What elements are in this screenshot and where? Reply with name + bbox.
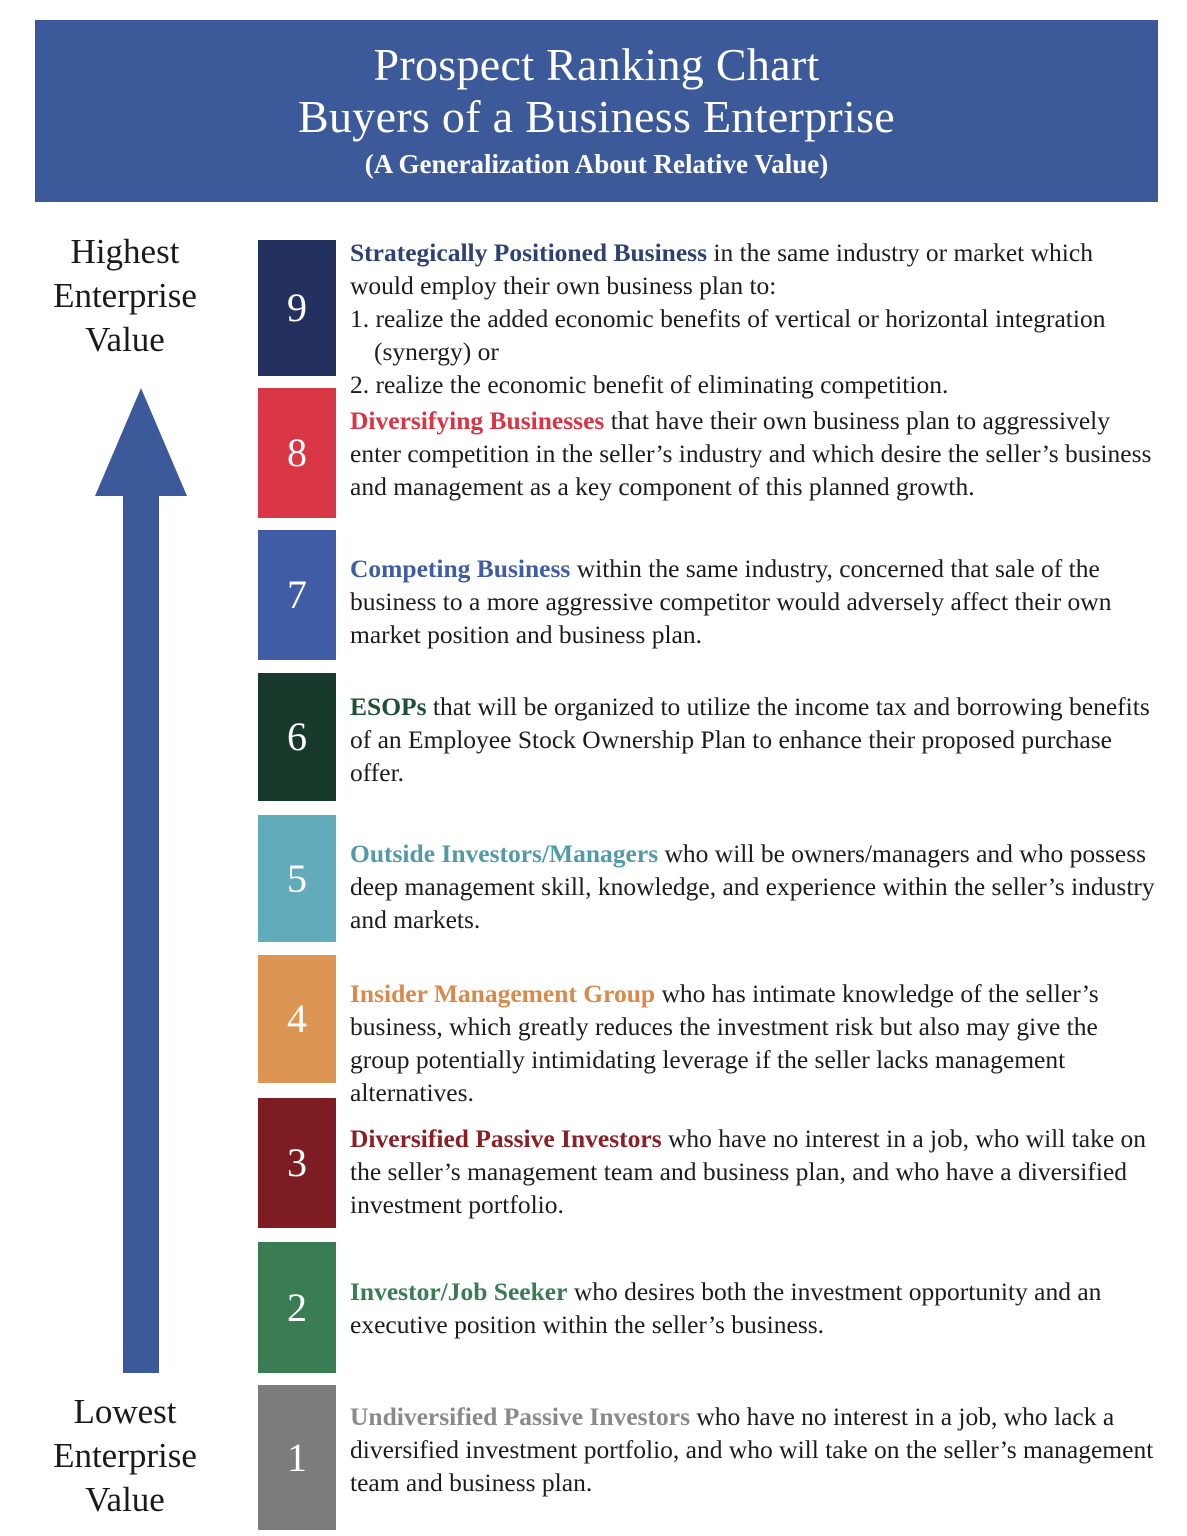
rank-number-label: 4 bbox=[287, 999, 307, 1039]
rank-number-label: 7 bbox=[287, 575, 307, 615]
rank-description: Undiversified Passive Investors who have… bbox=[350, 1400, 1162, 1499]
rank-number-label: 2 bbox=[287, 1288, 307, 1328]
rank-number-chip[interactable]: 8 bbox=[258, 388, 336, 518]
rank-description: Diversifying Businesses that have their … bbox=[350, 404, 1162, 503]
rank-number-chip[interactable]: 6 bbox=[258, 673, 336, 801]
rank-sublist-item: 2. realize the economic benefit of elimi… bbox=[350, 368, 1162, 401]
rank-number-chip[interactable]: 4 bbox=[258, 955, 336, 1083]
rank-term: ESOPs bbox=[350, 692, 427, 721]
rank-number-label: 5 bbox=[287, 859, 307, 899]
rank-term: Investor/Job Seeker bbox=[350, 1277, 567, 1306]
rank-description: Investor/Job Seeker who desires both the… bbox=[350, 1275, 1162, 1341]
rank-description: Competing Business within the same indus… bbox=[350, 552, 1162, 651]
rank-number-chip[interactable]: 5 bbox=[258, 815, 336, 942]
rank-number-label: 8 bbox=[287, 433, 307, 473]
rank-number-chip[interactable]: 2 bbox=[258, 1242, 336, 1373]
rank-number-chip[interactable]: 1 bbox=[258, 1385, 336, 1530]
rank-term: Strategically Positioned Business bbox=[350, 238, 707, 267]
rank-term: Diversifying Businesses bbox=[350, 406, 604, 435]
rank-description: Strategically Positioned Business in the… bbox=[350, 236, 1162, 401]
rank-description: Insider Management Group who has intimat… bbox=[350, 977, 1162, 1109]
rank-term: Outside Investors/Managers bbox=[350, 839, 658, 868]
rank-number-label: 6 bbox=[287, 717, 307, 757]
rank-term: Undiversified Passive Investors bbox=[350, 1402, 690, 1431]
rank-number-label: 9 bbox=[287, 288, 307, 328]
rank-number-label: 3 bbox=[287, 1143, 307, 1183]
rank-term: Competing Business bbox=[350, 554, 570, 583]
rank-term: Insider Management Group bbox=[350, 979, 655, 1008]
rank-number-chip[interactable]: 9 bbox=[258, 240, 336, 376]
rank-term: Diversified Passive Investors bbox=[350, 1124, 662, 1153]
rank-number-chip[interactable]: 3 bbox=[258, 1098, 336, 1228]
rank-sublist-item: 1. realize the added economic benefits o… bbox=[350, 302, 1162, 368]
rank-description: Outside Investors/Managers who will be o… bbox=[350, 837, 1162, 936]
rank-number-label: 1 bbox=[287, 1438, 307, 1478]
rank-body-text: that will be organized to utilize the in… bbox=[350, 692, 1150, 787]
rank-rows-container: 9Strategically Positioned Business in th… bbox=[0, 0, 1187, 1536]
rank-number-chip[interactable]: 7 bbox=[258, 530, 336, 660]
rank-sublist: 1. realize the added economic benefits o… bbox=[350, 302, 1162, 401]
rank-description: Diversified Passive Investors who have n… bbox=[350, 1122, 1162, 1221]
rank-description: ESOPs that will be organized to utilize … bbox=[350, 690, 1162, 789]
